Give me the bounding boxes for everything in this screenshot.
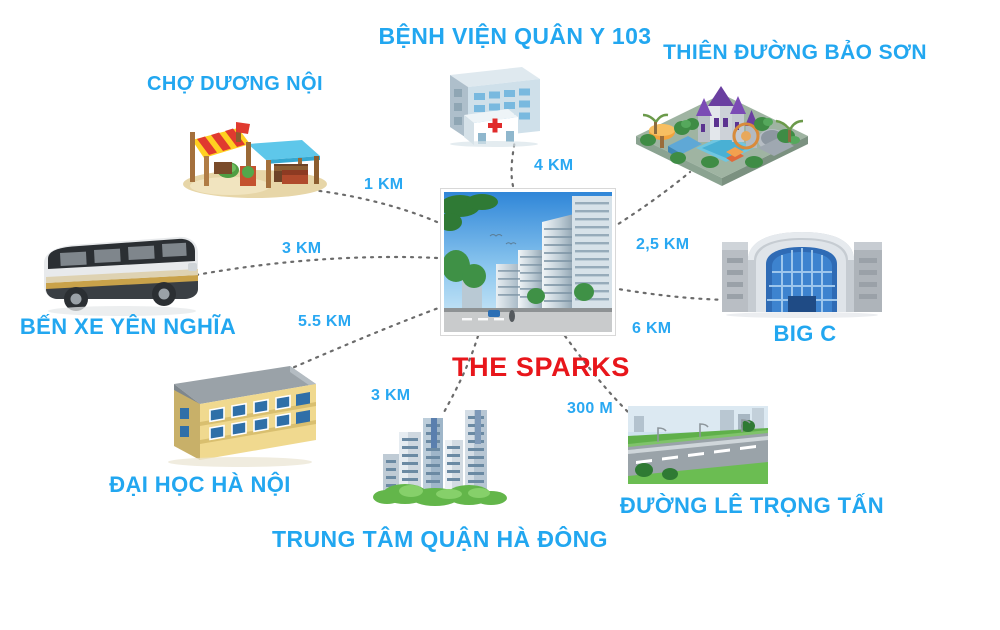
distance-thien-duong: 2,5 KM [636,236,689,254]
hub-project-image [441,189,615,335]
location-connectivity-diagram: THE SPARKS CHỢ DƯƠNG NỘI [0,0,1000,630]
hospital-building-icon [428,55,553,147]
distance-duong-le-trong-tan: 300 M [567,400,613,418]
poi-label-duong-le-trong-tan: ĐƯỜNG LÊ TRỌNG TẤN [612,494,892,518]
poi-label-trung-tam: TRUNG TÂM QUẬN HÀ ĐÔNG [270,527,610,552]
poi-label-thien-duong: THIÊN ĐƯỜNG BẢO SƠN [650,41,940,64]
distance-big-c: 6 KM [632,320,671,338]
distance-ben-xe: 3 KM [282,240,321,258]
poi-label-ben-xe: BẾN XE YÊN NGHĨA [18,315,238,339]
connector-ben-xe [196,257,437,275]
distance-cho-duong-noi: 1 KM [364,176,403,194]
university-building-icon [140,358,320,468]
distance-trung-tam: 3 KM [371,387,410,405]
big-c-store-icon [722,228,882,318]
hub-title: THE SPARKS [452,352,630,383]
poi-label-benh-vien: BỆNH VIỆN QUÂN Y 103 [355,24,675,49]
distance-dai-hoc: 5.5 KM [298,313,351,331]
city-center-towers-icon [375,396,510,506]
connector-big-c [612,288,738,300]
market-stalls-icon [170,100,335,200]
highway-road-icon [628,406,768,484]
distance-benh-vien: 4 KM [534,157,573,175]
bus-icon [38,225,203,317]
poi-label-dai-hoc: ĐẠI HỌC HÀ NỘI [100,473,300,497]
theme-park-castle-icon [622,74,822,186]
poi-label-big-c: BIG C [740,322,870,346]
poi-label-cho-duong-noi: CHỢ DƯƠNG NỘI [145,73,325,95]
